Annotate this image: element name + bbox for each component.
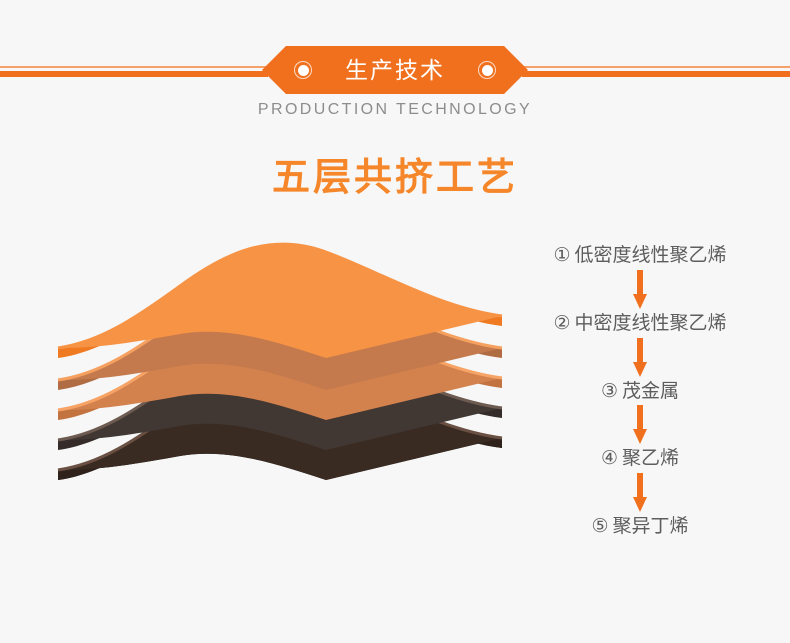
flow-arrow-2-shaft: [637, 338, 643, 364]
flow-item-3-label: 茂金属: [622, 381, 679, 402]
header-rule-right-thin-line: [522, 66, 790, 68]
flow-item-1-label: 低密度线性聚乙烯: [575, 245, 727, 266]
flow-item-3-number: ③: [601, 381, 618, 402]
flow-arrow-1-shaft: [637, 270, 643, 296]
flow-arrow-4-icon: [633, 471, 647, 515]
flow-arrow-4-shaft: [637, 473, 643, 499]
page-header: 生产技术 PRODUCTION TECHNOLOGY: [0, 0, 790, 140]
five-layer-sheet-stack: [40, 230, 520, 560]
header-rule-right-thick-line: [522, 71, 790, 77]
flow-arrow-3-shaft: [637, 405, 643, 431]
flow-item-5: ⑤聚异丁烯: [591, 515, 688, 539]
flow-item-4-label: 聚乙烯: [622, 448, 679, 469]
layer-flow-list: ①低密度线性聚乙烯 ②中密度线性聚乙烯 ③茂金属 ④聚乙烯 ⑤聚异丁烯: [515, 244, 765, 539]
flow-item-4: ④聚乙烯: [601, 447, 679, 471]
flow-item-3: ③茂金属: [601, 380, 679, 404]
flow-item-5-label: 聚异丁烯: [613, 516, 689, 537]
flow-item-4-number: ④: [601, 448, 618, 469]
flow-arrow-1-head: [633, 294, 647, 309]
flow-item-2: ②中密度线性聚乙烯: [553, 312, 726, 336]
banner-dot-right-icon: [478, 61, 496, 79]
header-rule-left-thin-line: [0, 66, 268, 68]
flow-item-1: ①低密度线性聚乙烯: [553, 244, 726, 268]
header-subtitle: PRODUCTION TECHNOLOGY: [0, 101, 790, 119]
flow-arrow-2-icon: [633, 336, 647, 380]
flow-arrow-1-icon: [633, 268, 647, 312]
flow-arrow-4-head: [633, 497, 647, 512]
flow-item-2-number: ②: [553, 313, 570, 334]
flow-item-2-label: 中密度线性聚乙烯: [575, 313, 727, 334]
header-rule-left-thick-line: [0, 71, 268, 77]
flow-arrow-3-head: [633, 429, 647, 444]
banner-title: 生产技术: [345, 59, 445, 82]
flow-item-1-number: ①: [553, 245, 570, 266]
page-title: 五层共挤工艺: [0, 146, 790, 201]
flow-arrow-2-head: [633, 362, 647, 377]
flow-arrow-3-icon: [633, 403, 647, 447]
banner-dot-left-icon: [294, 61, 312, 79]
flow-item-5-number: ⑤: [591, 516, 608, 537]
